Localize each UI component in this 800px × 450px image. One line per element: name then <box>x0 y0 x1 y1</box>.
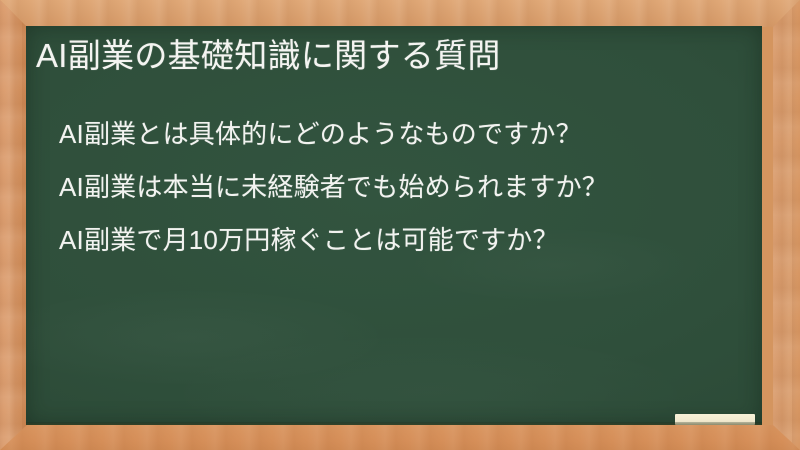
blackboard-scene: AI副業の基礎知識に関する質問 AI副業とは具体的にどのようなものですか？ AI… <box>0 0 800 450</box>
question-item-3: AI副業で月10万円稼ぐことは可能ですか？ <box>59 214 608 267</box>
frame-left-rail <box>0 0 27 450</box>
frame-right-rail <box>762 0 800 450</box>
board-title: AI副業の基礎知識に関する質問 <box>36 34 501 78</box>
frame-top-rail <box>0 0 800 27</box>
question-item-1: AI副業とは具体的にどのようなものですか？ <box>59 108 608 161</box>
question-list: AI副業とは具体的にどのようなものですか？ AI副業は本当に未経験者でも始められ… <box>59 108 608 267</box>
frame-bottom-rail <box>0 425 800 450</box>
board-bottom-lip <box>26 422 762 425</box>
question-item-2: AI副業は本当に未経験者でも始められますか？ <box>59 161 608 214</box>
chalkboard-surface: AI副業の基礎知識に関する質問 AI副業とは具体的にどのようなものですか？ AI… <box>26 26 762 425</box>
